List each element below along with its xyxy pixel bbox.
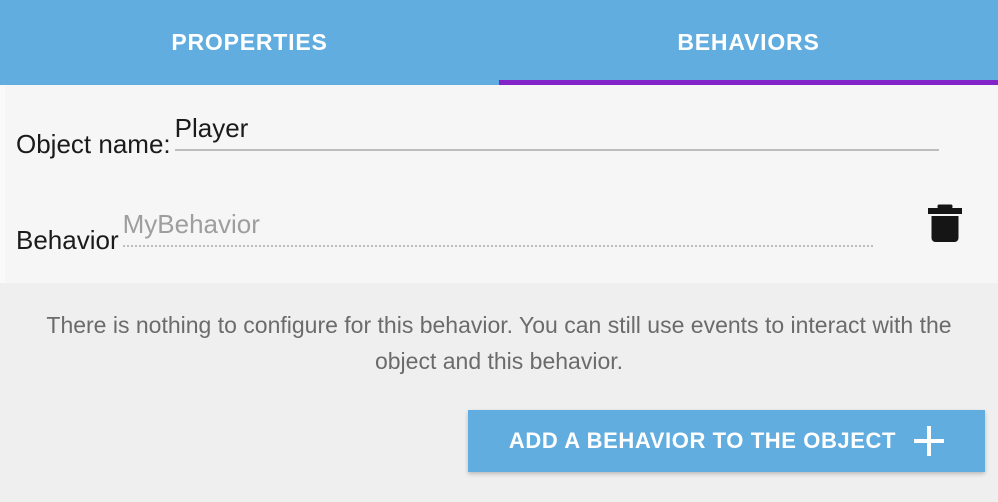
- behavior-description-text: There is nothing to configure for this b…: [40, 307, 958, 379]
- object-name-label: Object name:: [16, 124, 171, 164]
- add-behavior-button[interactable]: ADD A BEHAVIOR TO THE OBJECT: [468, 410, 985, 472]
- object-name-underline: [175, 149, 939, 151]
- object-editor-panel: PROPERTIES BEHAVIORS Object name: Behavi…: [0, 0, 998, 502]
- behavior-label: Behavior: [16, 220, 119, 260]
- behavior-name-underline: [123, 245, 875, 247]
- tab-bar: PROPERTIES BEHAVIORS: [0, 0, 998, 85]
- object-name-row: Object name:: [0, 107, 998, 163]
- behavior-field-wrap: [123, 203, 998, 249]
- delete-behavior-button[interactable]: [922, 201, 968, 247]
- behavior-name-input[interactable]: [123, 203, 887, 245]
- add-behavior-label: ADD A BEHAVIOR TO THE OBJECT: [509, 428, 896, 454]
- object-name-input[interactable]: [175, 107, 939, 149]
- behavior-row: Behavior: [0, 203, 998, 259]
- plus-icon: [914, 426, 944, 456]
- tab-behaviors[interactable]: BEHAVIORS: [499, 0, 998, 85]
- object-name-field-wrap: [175, 107, 998, 153]
- trash-icon: [926, 203, 964, 245]
- fields-panel: Object name: Behavior: [0, 85, 998, 283]
- tab-properties[interactable]: PROPERTIES: [0, 0, 499, 85]
